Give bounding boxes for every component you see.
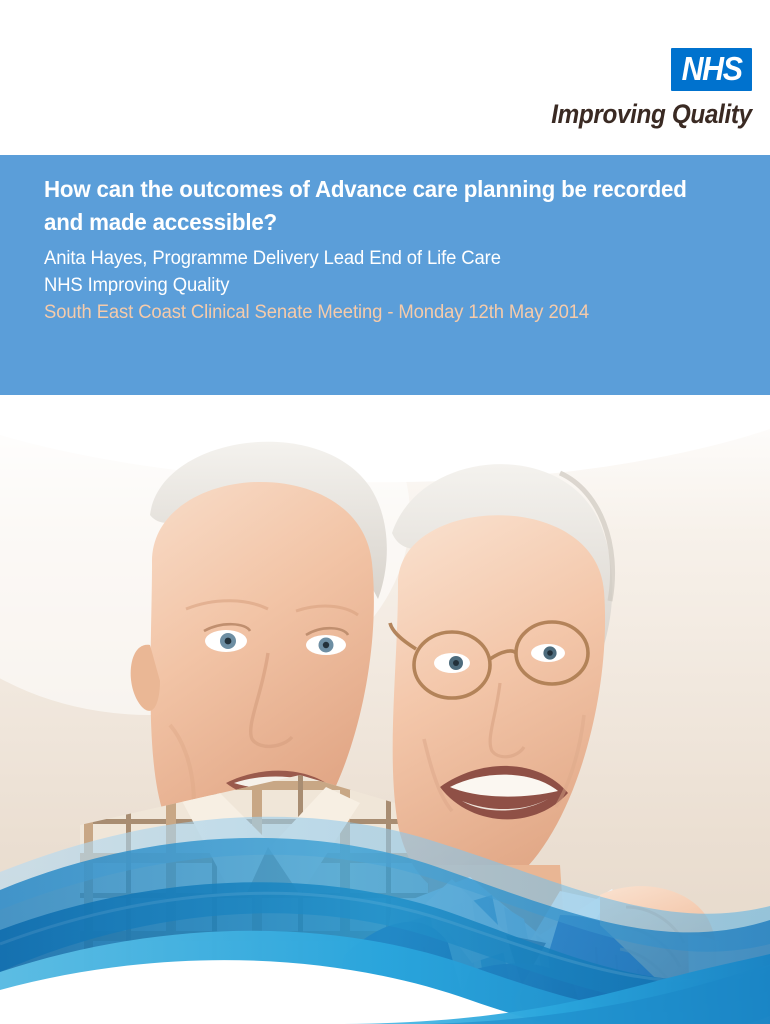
presenter-organisation: NHS Improving Quality [44,272,713,299]
slide-header: NHS Improving Quality [0,0,770,155]
nhs-improving-quality-logo: NHS Improving Quality [529,48,752,129]
elderly-couple-photo [0,395,770,1024]
slide-canvas: NHS Improving Quality How can the outcom… [0,0,770,1024]
photo-illustration [0,395,770,1024]
improving-quality-strapline: Improving Quality [552,99,752,129]
title-banner: How can the outcomes of Advance care pla… [0,155,770,395]
nhs-logo-text: NHS [681,51,741,87]
presenter-name-and-role: Anita Hayes, Programme Delivery Lead End… [44,245,713,272]
slide-title: How can the outcomes of Advance care pla… [44,173,713,239]
event-details: South East Coast Clinical Senate Meeting… [44,299,713,326]
nhs-logo-mark: NHS [671,48,752,91]
